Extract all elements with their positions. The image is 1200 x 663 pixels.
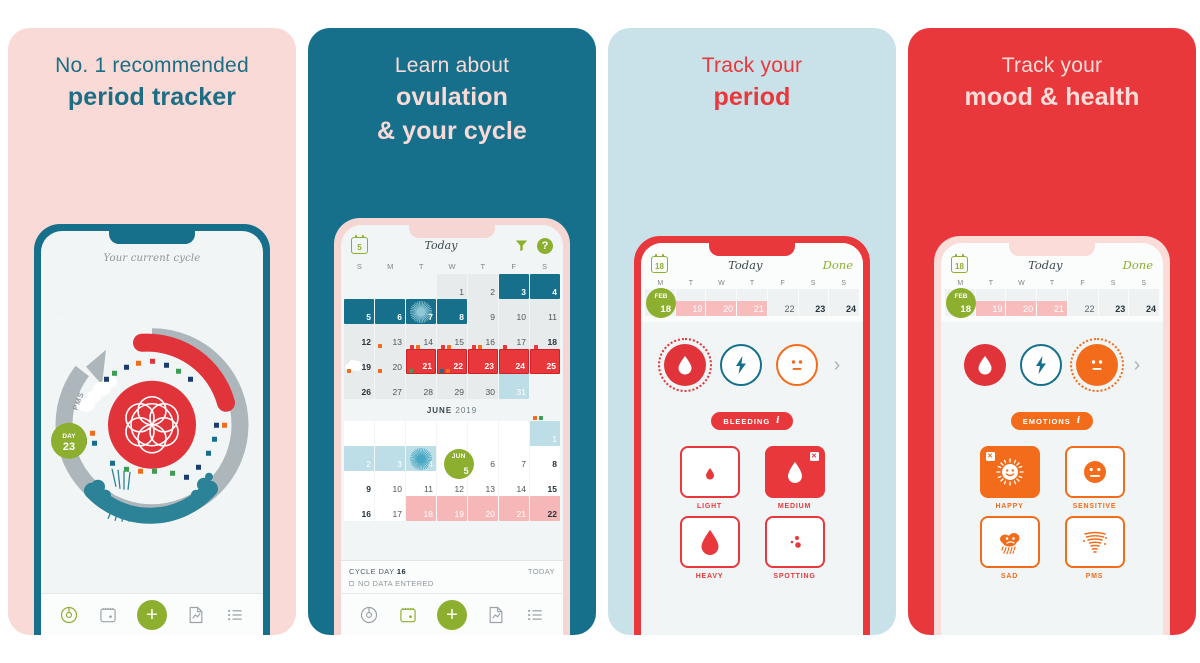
- calendar-day-cell[interactable]: 10: [375, 471, 405, 496]
- day-number: 11: [548, 312, 557, 322]
- dow-label: F: [1067, 280, 1098, 287]
- day-marker-dot: [410, 345, 414, 349]
- option-box: [765, 516, 825, 568]
- plus-icon[interactable]: +: [437, 600, 467, 630]
- calendar-badge-icon[interactable]: 18: [951, 256, 968, 273]
- medium-drop-icon: [785, 460, 805, 485]
- day-markers: [409, 369, 413, 373]
- day-number: 6: [397, 312, 402, 322]
- day-number: 5: [366, 312, 371, 322]
- day-marker-dot: [378, 369, 382, 373]
- calendar-day-cell[interactable]: [437, 421, 467, 446]
- calendar-day-cell[interactable]: [375, 421, 405, 446]
- dow-label: W: [1006, 280, 1037, 287]
- calendar-day-cell[interactable]: 24: [499, 349, 529, 374]
- calendar-day-cell[interactable]: 20: [468, 496, 498, 521]
- calendar-day-cell[interactable]: 1: [530, 421, 560, 446]
- week-strip-3[interactable]: 192021222324FEB18: [641, 289, 863, 322]
- panel-2-headline-big-1: ovulation: [318, 81, 586, 113]
- option-spotting[interactable]: SPOTTING: [760, 516, 829, 580]
- day-number: 22: [548, 509, 557, 519]
- plus-icon[interactable]: +: [137, 600, 167, 630]
- dow-label: T: [1037, 280, 1068, 287]
- panel-2-headline: Learn about ovulation & your cycle: [308, 28, 596, 147]
- day-markers: [378, 369, 382, 373]
- calendar-week-row: 16171819202122: [341, 496, 563, 521]
- week-day-cell[interactable]: 21: [737, 289, 767, 316]
- dow-label: T: [737, 280, 768, 287]
- day-number: 30: [486, 387, 495, 397]
- panel-track-period: Track your period 18 Today Done M T W T …: [608, 28, 896, 635]
- done-button[interactable]: Done: [1123, 258, 1153, 272]
- day-markers: [534, 345, 538, 349]
- day-marker-dot: [447, 345, 451, 349]
- calendar-day-cell[interactable]: 22: [530, 496, 560, 521]
- day-number: 17: [393, 509, 402, 519]
- day-number: 24: [516, 361, 525, 371]
- phone-mockup-1: Your current cycle: [34, 224, 270, 635]
- calendar-day-cell[interactable]: 11: [406, 471, 436, 496]
- spotting-icon: [783, 530, 807, 554]
- fertile-arc-label: FERTILE WINDOW: [46, 318, 133, 320]
- calendar-day-cell[interactable]: 25: [530, 349, 560, 374]
- week-day-cell[interactable]: 21: [1037, 289, 1067, 316]
- badge-month: FEB: [646, 293, 676, 300]
- panel-1-headline-small: No. 1 recommended: [18, 54, 286, 79]
- phone-screen-2: 5 Today ? S M T W T F S 12345678910111: [341, 225, 563, 635]
- cycle-day-text: CYCLE DAY: [349, 567, 394, 576]
- small-drop-icon: [702, 462, 718, 482]
- dow-label: S: [344, 262, 375, 271]
- day-badge-num: 23: [63, 440, 75, 452]
- panel-3-headline: Track your period: [608, 28, 896, 113]
- day-number: 19: [362, 362, 371, 372]
- day-marker-dot: [440, 369, 444, 373]
- day-number: 12: [455, 484, 464, 494]
- day-marker-dot: [409, 369, 413, 373]
- category-pill-wrap-4: EMOTIONS i: [941, 390, 1163, 430]
- category-pill-wrap-3: BLEEDING i: [641, 390, 863, 430]
- day-number: 28: [424, 387, 433, 397]
- calendar-day-cell[interactable]: 17: [375, 496, 405, 521]
- chevron-right-icon[interactable]: ›: [1134, 354, 1141, 377]
- option-sensitive[interactable]: SENSITIVE: [1060, 446, 1129, 510]
- dow-label: M: [945, 280, 976, 287]
- day-number: 23: [485, 361, 494, 371]
- option-box: [980, 516, 1040, 568]
- calendar-day-cell[interactable]: 12: [344, 324, 374, 349]
- day-number: 19: [692, 304, 702, 314]
- day-marker-dot: [416, 345, 420, 349]
- calendar-icon[interactable]: [398, 605, 418, 625]
- day-markers: [378, 344, 382, 348]
- calendar-day-cell[interactable]: 13: [468, 471, 498, 496]
- selected-day-badge[interactable]: JUN5: [444, 449, 474, 479]
- option-label: SENSITIVE: [1073, 503, 1117, 510]
- calendar-week-row: 262728293031: [341, 374, 563, 399]
- day-number: 21: [1054, 304, 1064, 314]
- day-number: 20: [393, 362, 402, 372]
- week-day-cell[interactable]: 23: [799, 289, 829, 316]
- day-number: 21: [754, 304, 764, 314]
- selected-ring: [1070, 338, 1124, 392]
- selected-day-badge[interactable]: FEB18: [946, 288, 976, 318]
- option-sad[interactable]: SAD: [975, 516, 1044, 580]
- day-number: 14: [517, 484, 526, 494]
- dow-label: S: [798, 280, 829, 287]
- calendar-day-cell[interactable]: 18: [406, 496, 436, 521]
- day-number: 16: [362, 509, 371, 519]
- day-marker-dot: [533, 416, 537, 420]
- panel-track-mood-health: Track your mood & health 18 Today Done M…: [908, 28, 1196, 635]
- day-markers: [503, 345, 507, 349]
- face-icon: [785, 353, 809, 377]
- category-row-3: ›: [641, 322, 863, 390]
- help-icon[interactable]: ?: [537, 238, 553, 254]
- calendar-day-cell[interactable]: 7: [406, 299, 436, 324]
- calendar-day-cell[interactable]: 28: [406, 374, 436, 399]
- panel-2-headline-big-2: & your cycle: [318, 115, 586, 147]
- calendar-day-cell[interactable]: [499, 421, 529, 446]
- calendar-day-cell[interactable]: 6: [375, 299, 405, 324]
- option-label: SAD: [1001, 573, 1018, 580]
- option-label: LIGHT: [697, 503, 722, 510]
- calendar-day-cell[interactable]: 19: [437, 496, 467, 521]
- pill-label: EMOTIONS: [1023, 417, 1071, 426]
- calendar-day-cell[interactable]: 9: [468, 299, 498, 324]
- day-number: 2: [490, 287, 495, 297]
- symptoms-category[interactable]: [720, 344, 762, 386]
- day-number: 31: [517, 387, 526, 397]
- option-box: [680, 516, 740, 568]
- calendar-day-cell[interactable]: 15: [530, 471, 560, 496]
- week-strip-4[interactable]: 192021222324FEB18: [941, 289, 1163, 322]
- day-number: 19: [455, 509, 464, 519]
- cycle-icon[interactable]: [59, 605, 79, 625]
- calendar-day-cell[interactable]: 21: [499, 496, 529, 521]
- week-day-cell[interactable]: 22: [1068, 289, 1098, 316]
- large-drop-icon: [699, 529, 721, 556]
- option-box: ✕: [765, 446, 825, 498]
- panel-3-headline-big: period: [618, 81, 886, 113]
- neutral-face-icon: [1081, 458, 1109, 486]
- calendar-footer: CYCLE DAY 16 TODAY NO DATA ENTERED: [341, 560, 563, 593]
- calendar-day-cell[interactable]: 4: [406, 446, 436, 471]
- week-day-cell[interactable]: 24: [829, 289, 859, 316]
- badge-day: 18: [960, 304, 971, 315]
- day-number: 24: [846, 304, 856, 314]
- day-number: 6: [490, 459, 495, 469]
- week-day-cell[interactable]: 19: [676, 289, 706, 316]
- calendar-day-cell[interactable]: 26: [344, 374, 374, 399]
- calendar-day-cell[interactable]: 4: [530, 274, 560, 299]
- day-number: 17: [517, 337, 526, 347]
- day-number: 22: [785, 304, 795, 314]
- calendar-day-cell[interactable]: [344, 421, 374, 446]
- selected-day-badge[interactable]: FEB18: [646, 288, 676, 318]
- calendar-day-cell[interactable]: 8: [437, 299, 467, 324]
- bleeding-pill[interactable]: BLEEDING i: [711, 412, 792, 430]
- day-number: 20: [723, 304, 733, 314]
- bleeding-options-grid: LIGHT ✕ MEDIUM HEAVY: [641, 430, 863, 580]
- phone-notch: [1009, 243, 1095, 256]
- report-icon[interactable]: [486, 605, 506, 625]
- bleeding-category[interactable]: [964, 344, 1006, 386]
- today-label[interactable]: Today: [425, 239, 458, 252]
- calendar-day-cell[interactable]: 31: [499, 374, 529, 399]
- chevron-right-icon[interactable]: ›: [834, 354, 841, 377]
- option-box: [1065, 516, 1125, 568]
- calendar-day-cell[interactable]: 5: [344, 299, 374, 324]
- calendar-day-cell[interactable]: 10: [499, 299, 529, 324]
- bottom-nav-1: +: [41, 593, 263, 635]
- phone-mockup-2: 5 Today ? S M T W T F S 12345678910111: [334, 218, 570, 635]
- day-number: 21: [517, 509, 526, 519]
- day-number: 27: [393, 387, 402, 397]
- dow-label: M: [375, 262, 406, 271]
- week-day-cell[interactable]: 22: [768, 289, 798, 316]
- panel-4-headline-small: Track your: [918, 54, 1186, 79]
- calendar-day-cell[interactable]: 16: [344, 496, 374, 521]
- option-pms[interactable]: PMS: [1060, 516, 1129, 580]
- week-day-cell[interactable]: 20: [1006, 289, 1036, 316]
- panel-1-headline: No. 1 recommended period tracker: [8, 28, 296, 113]
- dow-label: W: [706, 280, 737, 287]
- rain-cloud-face-icon: [995, 527, 1025, 557]
- option-label: HEAVY: [696, 573, 724, 580]
- dow-label: S: [529, 262, 560, 271]
- calendar-week-row: 19202122232425: [341, 349, 563, 374]
- day-number: 20: [1023, 304, 1033, 314]
- dow-label: T: [676, 280, 707, 287]
- day-number: 10: [517, 312, 526, 322]
- bleeding-category[interactable]: [664, 344, 706, 386]
- cycle-wheel[interactable]: THE PERIOD FERTILE WINDOW PMS DAY 23: [46, 318, 258, 530]
- day-number: 1: [552, 434, 557, 444]
- info-icon[interactable]: i: [776, 416, 780, 426]
- filter-icon[interactable]: [514, 238, 529, 253]
- day-number: 13: [486, 484, 495, 494]
- emotion-options-grid: ✕: [941, 430, 1163, 580]
- day-number: 13: [393, 337, 402, 347]
- day-number: 18: [424, 509, 433, 519]
- day-markers: [347, 369, 351, 373]
- day-number: 29: [455, 387, 464, 397]
- today-label[interactable]: Today: [728, 258, 762, 272]
- day-number: 4: [552, 287, 557, 297]
- remove-icon[interactable]: ✕: [810, 452, 819, 461]
- day-number: 22: [1085, 304, 1095, 314]
- sun-face-icon: [995, 457, 1025, 487]
- done-button[interactable]: Done: [823, 258, 853, 272]
- day-marker-dot: [347, 369, 351, 373]
- calendar-day-cell[interactable]: 9: [344, 471, 374, 496]
- day-number: 23: [1115, 304, 1125, 314]
- phone-mockup-3: 18 Today Done M T W T F S S 192021222324…: [634, 236, 870, 635]
- calendar-day-cell[interactable]: 29: [437, 374, 467, 399]
- panel-4-headline-big: mood & health: [918, 81, 1186, 113]
- week-day-cell[interactable]: 19: [976, 289, 1006, 316]
- bottom-nav-2: +: [341, 593, 563, 635]
- month-label: JUNE 2019: [341, 399, 563, 421]
- report-icon[interactable]: [186, 605, 206, 625]
- phone-mockup-4: 18 Today Done M T W T F S S 192021222324…: [934, 236, 1170, 635]
- calendar-day-cell[interactable]: [406, 421, 436, 446]
- day-number: 21: [423, 361, 432, 371]
- checkbox-icon: [349, 581, 354, 586]
- week-day-cell[interactable]: 23: [1099, 289, 1129, 316]
- week-dow-header-4: M T W T F S S: [941, 280, 1163, 289]
- calendar-week-row: 1234: [341, 274, 563, 299]
- list-icon[interactable]: [225, 605, 245, 625]
- week-dow-header-3: M T W T F S S: [641, 280, 863, 289]
- app-store-screenshot-gallery: No. 1 recommended period tracker Your cu…: [0, 0, 1200, 663]
- day-number: 18: [548, 337, 557, 347]
- calendar-cell-empty: [344, 274, 374, 299]
- lightning-icon: [1033, 355, 1049, 375]
- panel-1-headline-big: period tracker: [18, 81, 286, 113]
- phone-notch: [109, 231, 195, 244]
- calendar-day-cell[interactable]: 7: [499, 446, 529, 471]
- month-year: 2019: [455, 406, 477, 415]
- calendar-day-cell[interactable]: 11: [530, 299, 560, 324]
- dow-label: F: [498, 262, 529, 271]
- day-number: 7: [428, 312, 433, 322]
- week-day-cell[interactable]: 24: [1129, 289, 1159, 316]
- calendar-cell-empty: [530, 374, 560, 399]
- emotions-category[interactable]: [776, 344, 818, 386]
- day-number: 3: [521, 287, 526, 297]
- day-marker-dot: [472, 345, 476, 349]
- day-number: 8: [459, 312, 464, 322]
- badge-day: 18: [660, 304, 671, 315]
- dow-label: T: [467, 262, 498, 271]
- calendar-day-cell[interactable]: 3: [499, 274, 529, 299]
- day-number: 11: [424, 484, 433, 494]
- option-box: [1065, 446, 1125, 498]
- calendar-day-cell[interactable]: 2: [468, 274, 498, 299]
- panel-period-tracker: No. 1 recommended period tracker Your cu…: [8, 28, 296, 635]
- day-number: 2: [366, 459, 371, 469]
- day-number: 19: [992, 304, 1002, 314]
- day-marker-dot: [534, 345, 538, 349]
- day-markers: [410, 345, 420, 349]
- day-number: 7: [521, 459, 526, 469]
- no-data-row: NO DATA ENTERED: [349, 579, 555, 588]
- day-number: 20: [486, 509, 495, 519]
- emotions-category[interactable]: [1076, 344, 1118, 386]
- day-markers: [440, 369, 450, 373]
- calendar-week-row: 12131415161718: [341, 324, 563, 349]
- dow-label: W: [437, 262, 468, 271]
- day-badge-top: DAY: [62, 432, 76, 439]
- day-number: 24: [1146, 304, 1156, 314]
- day-number: 22: [454, 361, 463, 371]
- dow-label: F: [767, 280, 798, 287]
- day-number: 23: [815, 304, 825, 314]
- badge-month: JUN: [444, 453, 474, 460]
- option-medium[interactable]: ✕ MEDIUM: [760, 446, 829, 510]
- day-number: 25: [547, 361, 556, 371]
- emotions-pill[interactable]: EMOTIONS i: [1011, 412, 1093, 430]
- day-markers: [533, 416, 543, 420]
- today-label[interactable]: Today: [1028, 258, 1062, 272]
- lightning-icon: [733, 355, 749, 375]
- today-marker: TODAY: [528, 567, 555, 576]
- list-icon[interactable]: [525, 605, 545, 625]
- calendar-cell-empty: [375, 274, 405, 299]
- option-label: SPOTTING: [773, 573, 815, 580]
- calendar-day-cell[interactable]: [468, 421, 498, 446]
- phone-notch: [409, 225, 495, 238]
- option-light[interactable]: LIGHT: [675, 446, 744, 510]
- day-marker-dot: [441, 345, 445, 349]
- dow-label: S: [1128, 280, 1159, 287]
- calendar-badge-icon[interactable]: 18: [651, 256, 668, 273]
- calendar-day-cell[interactable]: 2: [344, 446, 374, 471]
- day-markers: [472, 345, 482, 349]
- phone-screen-1: Your current cycle: [41, 231, 263, 635]
- panel-2-headline-small: Learn about: [318, 54, 586, 79]
- calendar-week-row: 1: [341, 421, 563, 446]
- day-marker-dot: [378, 344, 382, 348]
- calendar-dow-header: S M T W T F S: [341, 260, 563, 274]
- panel-4-headline: Track your mood & health: [908, 28, 1196, 113]
- calendar-day-cell[interactable]: 30: [468, 374, 498, 399]
- day-number: 9: [366, 484, 371, 494]
- selected-ring: [658, 338, 712, 392]
- remove-icon[interactable]: ✕: [986, 452, 995, 461]
- option-box: ✕: [980, 446, 1040, 498]
- phone-screen-3: 18 Today Done M T W T F S S 192021222324…: [641, 243, 863, 635]
- symptoms-category[interactable]: [1020, 344, 1062, 386]
- cycle-day-label: CYCLE DAY 16: [349, 567, 406, 576]
- calendar-day-cell[interactable]: 23: [468, 349, 498, 374]
- no-data-label: NO DATA ENTERED: [358, 579, 434, 588]
- calendar-badge-icon[interactable]: 5: [351, 237, 368, 254]
- calendar-day-cell[interactable]: 27: [375, 374, 405, 399]
- calendar-icon[interactable]: [98, 605, 118, 625]
- calendar-day-cell[interactable]: 8: [530, 446, 560, 471]
- day-number: 26: [362, 387, 371, 397]
- day-marker-dot: [539, 416, 543, 420]
- day-number: 4: [428, 459, 433, 469]
- day-marker-dot: [478, 345, 482, 349]
- dow-label: S: [1098, 280, 1129, 287]
- day-number: 8: [552, 459, 557, 469]
- phone-notch: [709, 243, 795, 256]
- cycle-icon[interactable]: [359, 605, 379, 625]
- option-happy[interactable]: ✕: [975, 446, 1044, 510]
- phone-screen-4: 18 Today Done M T W T F S S 192021222324…: [941, 243, 1163, 635]
- week-day-cell[interactable]: 20: [706, 289, 736, 316]
- day-number: 1: [459, 287, 464, 297]
- cycle-day-value: 16: [397, 567, 406, 576]
- dow-label: T: [406, 262, 437, 271]
- day-number: 9: [490, 312, 495, 322]
- blood-drop-icon: [977, 355, 993, 375]
- calendar-day-cell[interactable]: 3: [375, 446, 405, 471]
- day-number: 12: [362, 337, 371, 347]
- calendar-day-cell[interactable]: 1: [437, 274, 467, 299]
- calendar-day-cell[interactable]: 14: [499, 471, 529, 496]
- info-icon[interactable]: i: [1077, 416, 1081, 426]
- day-number: 15: [548, 484, 557, 494]
- calendar-grid-top[interactable]: 1234567891011121314151617181920212223242…: [341, 274, 563, 399]
- calendar-grid-bottom[interactable]: 12345678910111213141516171819202122JUN5: [341, 421, 563, 521]
- badge-day: 5: [464, 466, 469, 476]
- option-heavy[interactable]: HEAVY: [675, 516, 744, 580]
